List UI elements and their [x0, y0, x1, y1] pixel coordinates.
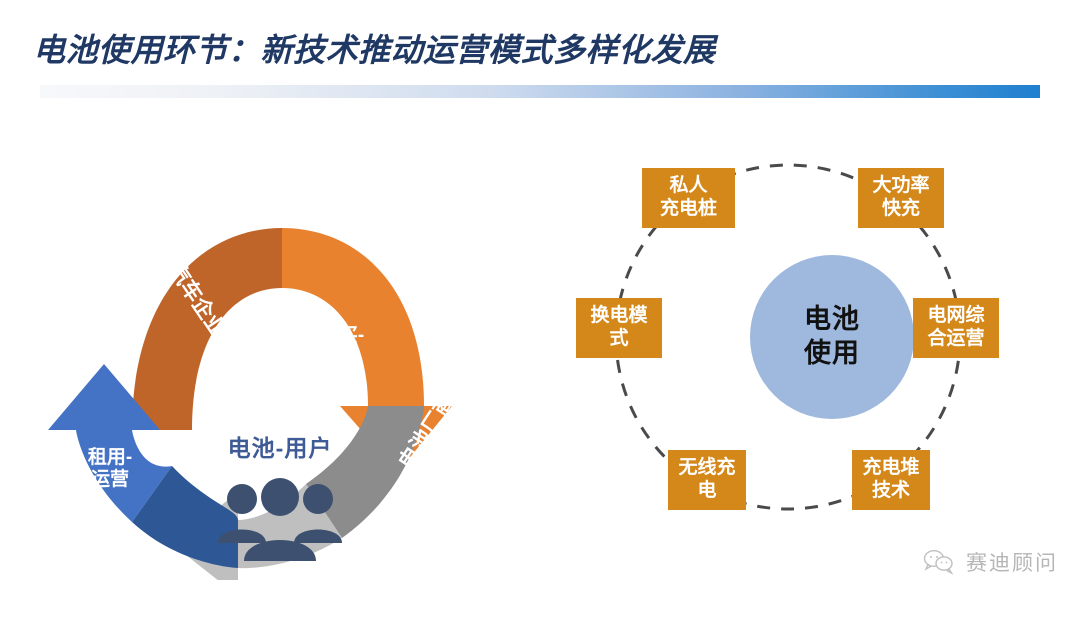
hub-chip-high-power-fast[interactable]: 大功率 快充: [858, 168, 944, 228]
hub-chip-wireless-charge[interactable]: 无线充 电: [668, 450, 746, 510]
page-title: 电池使用环节：新技术推动运营模式多样化发展: [33, 32, 716, 69]
cycle-segment-auto: [132, 228, 282, 430]
battery-user-cycle-diagram: 汽车企业 购买- 出售 电池厂商 租用- 维护 运营商 租用- 运营 电池-用户: [20, 120, 540, 580]
hub-center-label: 电池 使用: [804, 303, 860, 371]
battery-usage-hub-diagram: 电池 使用 私人 充电桩 大功率 快充 电网综 合运营 充电堆 技术 无线充 电…: [560, 140, 1030, 560]
slide-canvas: 电池使用环节：新技术推动运营模式多样化发展 汽车企业 购买- 出售 电池厂商 租…: [0, 0, 1080, 603]
hub-chip-private-charger[interactable]: 私人 充电桩: [642, 168, 735, 228]
hub-chip-charging-stack[interactable]: 充电堆 技术: [852, 450, 930, 510]
title-gradient-rule: [40, 85, 1040, 98]
watermark: 赛迪顾问: [923, 547, 1058, 577]
people-group-icon: [216, 475, 344, 565]
wechat-icon: [923, 549, 957, 575]
hub-chip-grid-operation[interactable]: 电网综 合运营: [913, 298, 999, 358]
watermark-text: 赛迪顾问: [966, 547, 1058, 577]
hub-center-circle: 电池 使用: [750, 255, 914, 419]
cycle-label-operator: 运营商: [130, 605, 240, 632]
cycle-center-title: 电池-用户: [190, 429, 370, 463]
cycle-label-maint: 租用- 维护: [298, 592, 382, 637]
hub-chip-swap-mode[interactable]: 换电模 式: [576, 298, 662, 358]
